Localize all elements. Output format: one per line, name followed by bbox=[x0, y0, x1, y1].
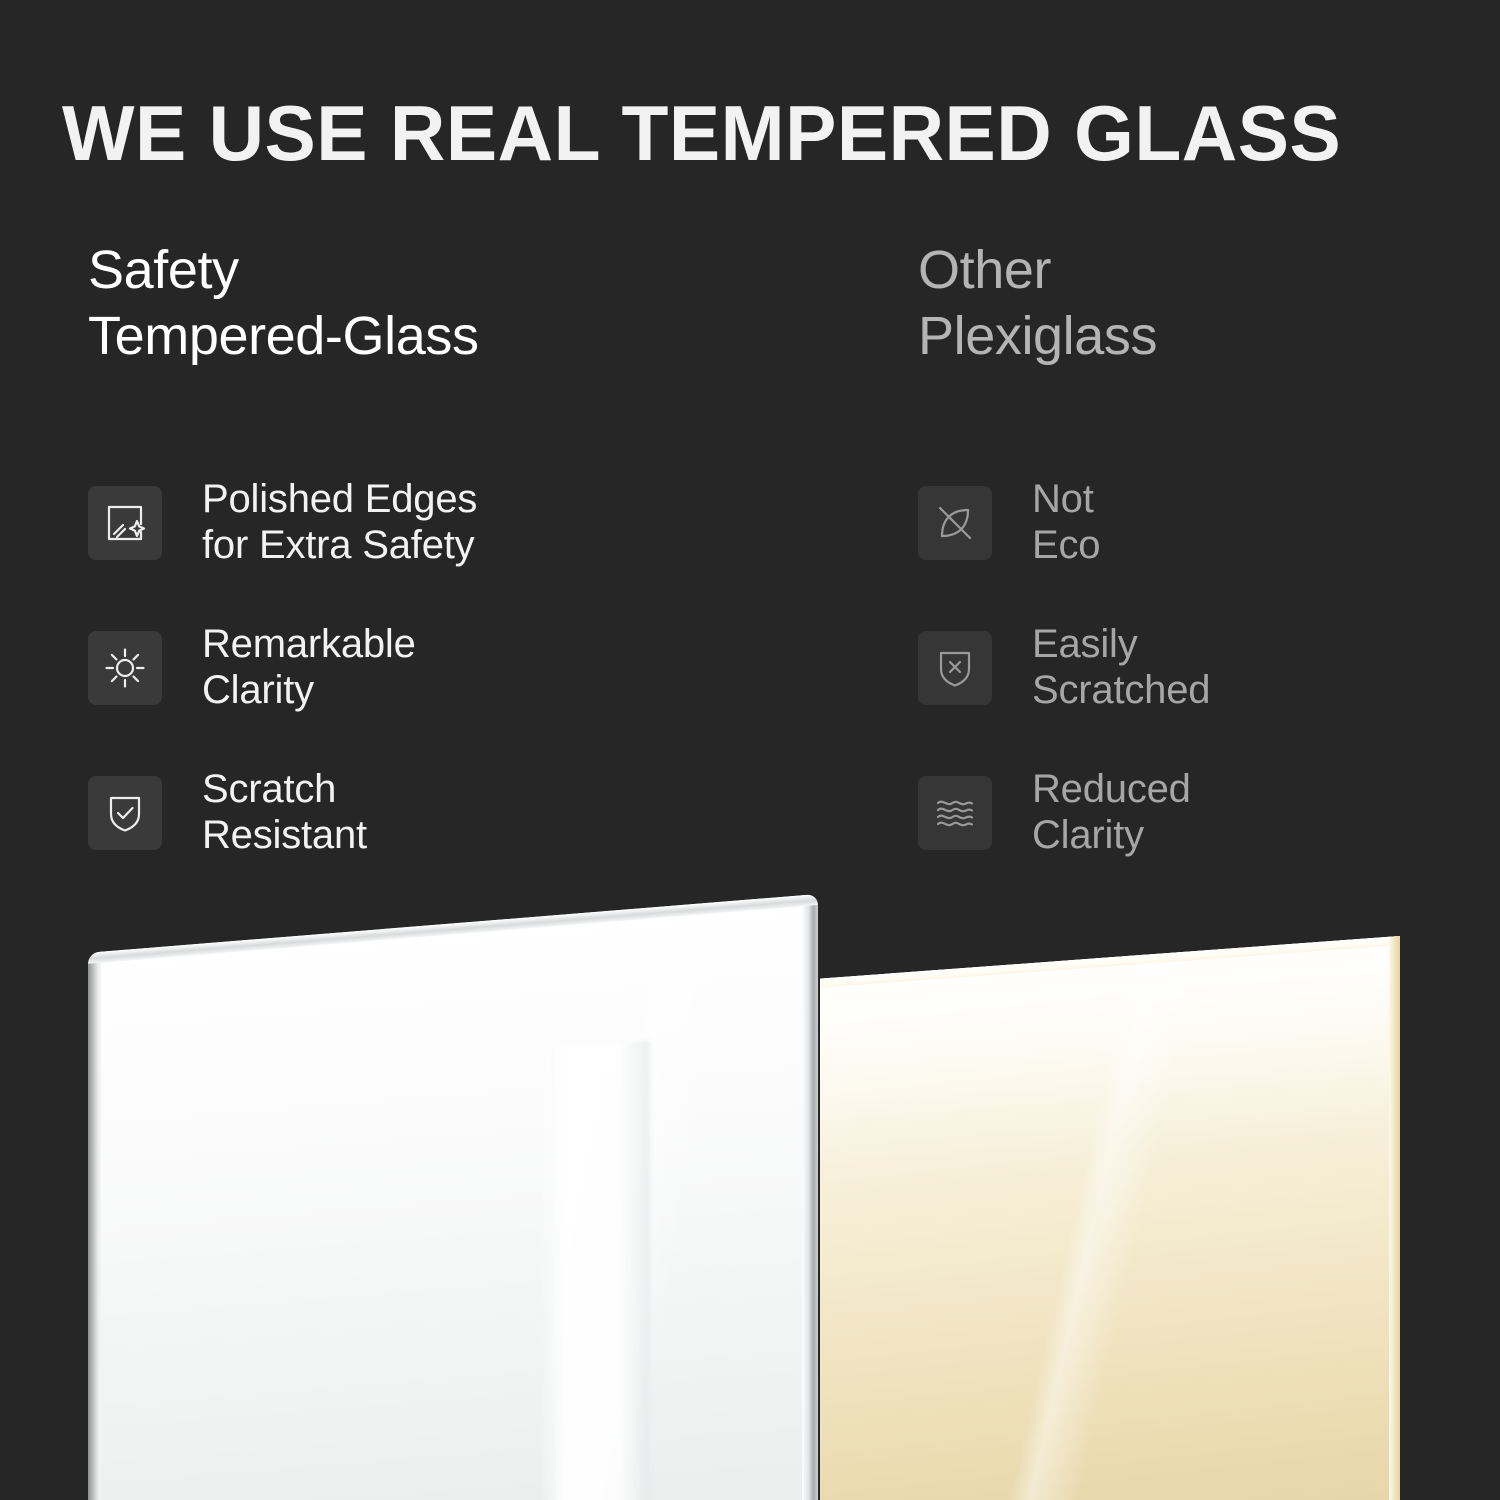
column-other-plexiglass: Other Plexiglass Not Eco bbox=[918, 238, 1478, 370]
column-title: Other Plexiglass bbox=[918, 238, 1478, 370]
column-safety-tempered-glass: Safety Tempered-Glass Polished Edges for… bbox=[88, 238, 848, 370]
feature-label: Reduced Clarity bbox=[1032, 767, 1191, 858]
tempered-glass-panel bbox=[88, 894, 818, 1500]
polished-pane-sparkle-icon bbox=[88, 486, 162, 560]
feature-easily-scratched: Easily Scratched bbox=[918, 595, 1478, 740]
comparison-columns: Safety Tempered-Glass Polished Edges for… bbox=[0, 238, 1500, 878]
plexiglass-panel bbox=[820, 936, 1400, 1500]
shield-x-icon bbox=[918, 631, 992, 705]
column-title: Safety Tempered-Glass bbox=[88, 238, 848, 370]
glass-top-polished-edge bbox=[88, 894, 818, 964]
glass-reflection-highlight bbox=[541, 1041, 651, 1500]
feature-remarkable-clarity: Remarkable Clarity bbox=[88, 595, 848, 740]
wavy-lines-icon bbox=[918, 776, 992, 850]
sun-brightness-icon bbox=[88, 631, 162, 705]
shield-check-icon bbox=[88, 776, 162, 850]
infographic-canvas: WE USE REAL TEMPERED GLASS Safety Temper… bbox=[0, 0, 1500, 1500]
feature-not-eco: Not Eco bbox=[918, 450, 1478, 595]
product-comparison-photo bbox=[0, 880, 1500, 1500]
feature-list-bad: Not Eco Easily Scratched bbox=[918, 450, 1478, 885]
glass-right-polished-edge bbox=[802, 894, 818, 1500]
feature-reduced-clarity: Reduced Clarity bbox=[918, 740, 1478, 885]
glass-left-polished-edge bbox=[88, 952, 101, 1500]
feature-label: Not Eco bbox=[1032, 477, 1100, 568]
leaf-slash-icon bbox=[918, 486, 992, 560]
feature-label: Remarkable Clarity bbox=[202, 622, 416, 713]
page-title: WE USE REAL TEMPERED GLASS bbox=[62, 94, 1431, 172]
plexiglass-right-edge bbox=[1389, 936, 1400, 1500]
feature-label: Polished Edges for Extra Safety bbox=[202, 477, 477, 568]
feature-list-good: Polished Edges for Extra Safety bbox=[88, 450, 848, 885]
feature-scratch-resistant: Scratch Resistant bbox=[88, 740, 848, 885]
feature-polished-edges: Polished Edges for Extra Safety bbox=[88, 450, 848, 595]
feature-label: Scratch Resistant bbox=[202, 767, 367, 858]
feature-label: Easily Scratched bbox=[1032, 622, 1210, 713]
